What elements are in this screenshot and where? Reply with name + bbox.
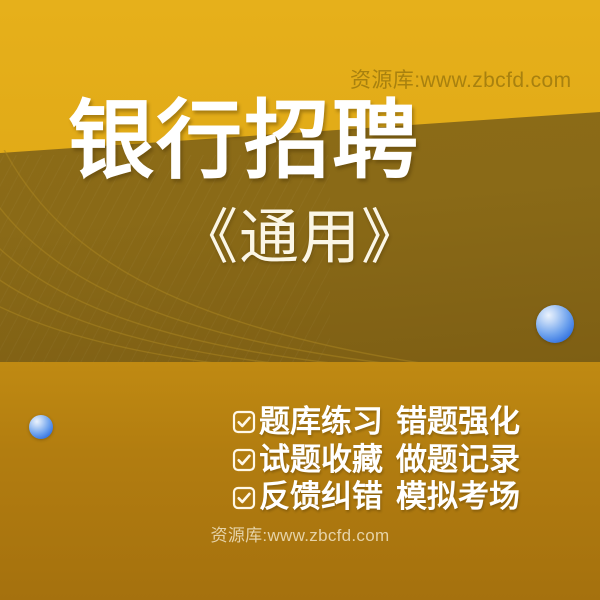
feature-label-secondary: 模拟考场 <box>396 480 520 515</box>
watermark-top: 资源库:www.zbcfd.com <box>350 64 572 94</box>
blue-sphere-icon-small <box>29 415 53 439</box>
checkbox-checked-icon <box>232 448 256 472</box>
list-item: 试题收藏 做题记录 <box>232 443 520 478</box>
checkbox-checked-icon <box>232 410 256 434</box>
feature-label-primary: 题库练习 <box>259 405 383 440</box>
feature-list: 题库练习 错题强化 试题收藏 做题记录 反馈纠错 模拟考场 <box>232 405 520 515</box>
poster-canvas: 资源库:www.zbcfd.com 银行招聘 《通用》 题库练习 错题强化 试题… <box>0 0 600 600</box>
list-item: 题库练习 错题强化 <box>232 405 520 440</box>
page-subtitle: 《通用》 <box>0 208 600 268</box>
feature-label-primary: 试题收藏 <box>259 443 383 478</box>
feature-label-secondary: 做题记录 <box>396 443 520 478</box>
page-title: 银行招聘 <box>68 98 420 184</box>
checkbox-checked-icon <box>232 486 256 510</box>
feature-label-primary: 反馈纠错 <box>259 480 383 515</box>
list-item: 反馈纠错 模拟考场 <box>232 480 520 515</box>
watermark-bottom: 资源库:www.zbcfd.com <box>0 521 600 546</box>
blue-sphere-icon-large <box>536 305 574 343</box>
feature-label-secondary: 错题强化 <box>396 405 520 440</box>
